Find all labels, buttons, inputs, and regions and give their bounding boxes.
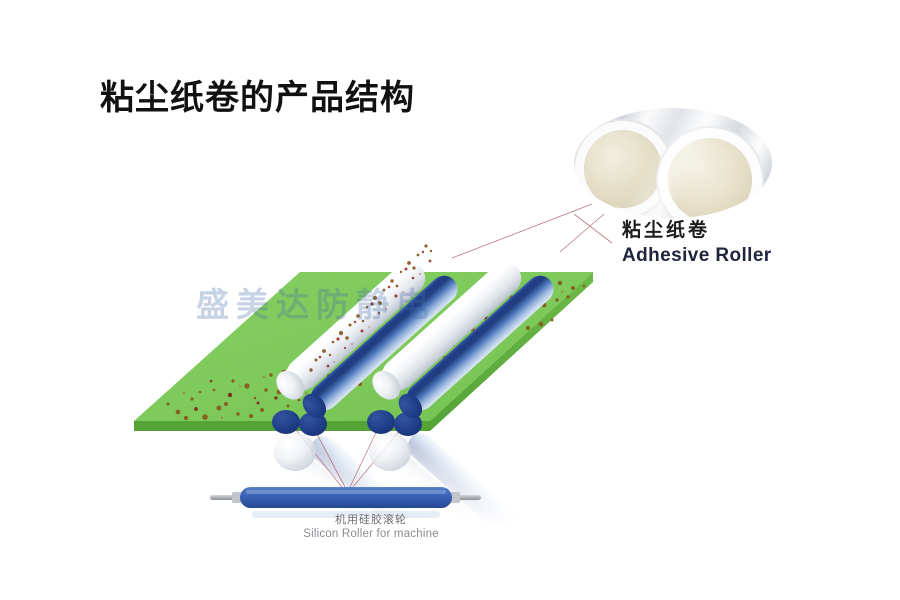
page-title: 粘尘纸卷的产品结构 <box>100 76 415 120</box>
label-adhesive-roller-en: Adhesive Roller <box>622 244 842 268</box>
label-adhesive-roller-cn: 粘尘纸卷 <box>622 218 842 242</box>
paper-roll-core-right <box>668 138 752 218</box>
label-silicon-roller-cn: 机用硅胶滚轮 <box>236 512 506 527</box>
paper-roll-core-left <box>584 130 662 208</box>
photo-ellipse-frame <box>574 108 772 218</box>
adhesive-roller-photo <box>574 108 772 218</box>
label-adhesive-roller: 粘尘纸卷 Adhesive Roller <box>622 218 842 268</box>
screenshot-canvas: 粘尘纸卷的产品结构 盛美达防静电 粘尘纸卷 Adhesive Roller 机用… <box>0 0 900 600</box>
label-silicon-roller: 机用硅胶滚轮 Silicon Roller for machine <box>236 512 506 542</box>
label-silicon-roller-en: Silicon Roller for machine <box>236 527 506 542</box>
